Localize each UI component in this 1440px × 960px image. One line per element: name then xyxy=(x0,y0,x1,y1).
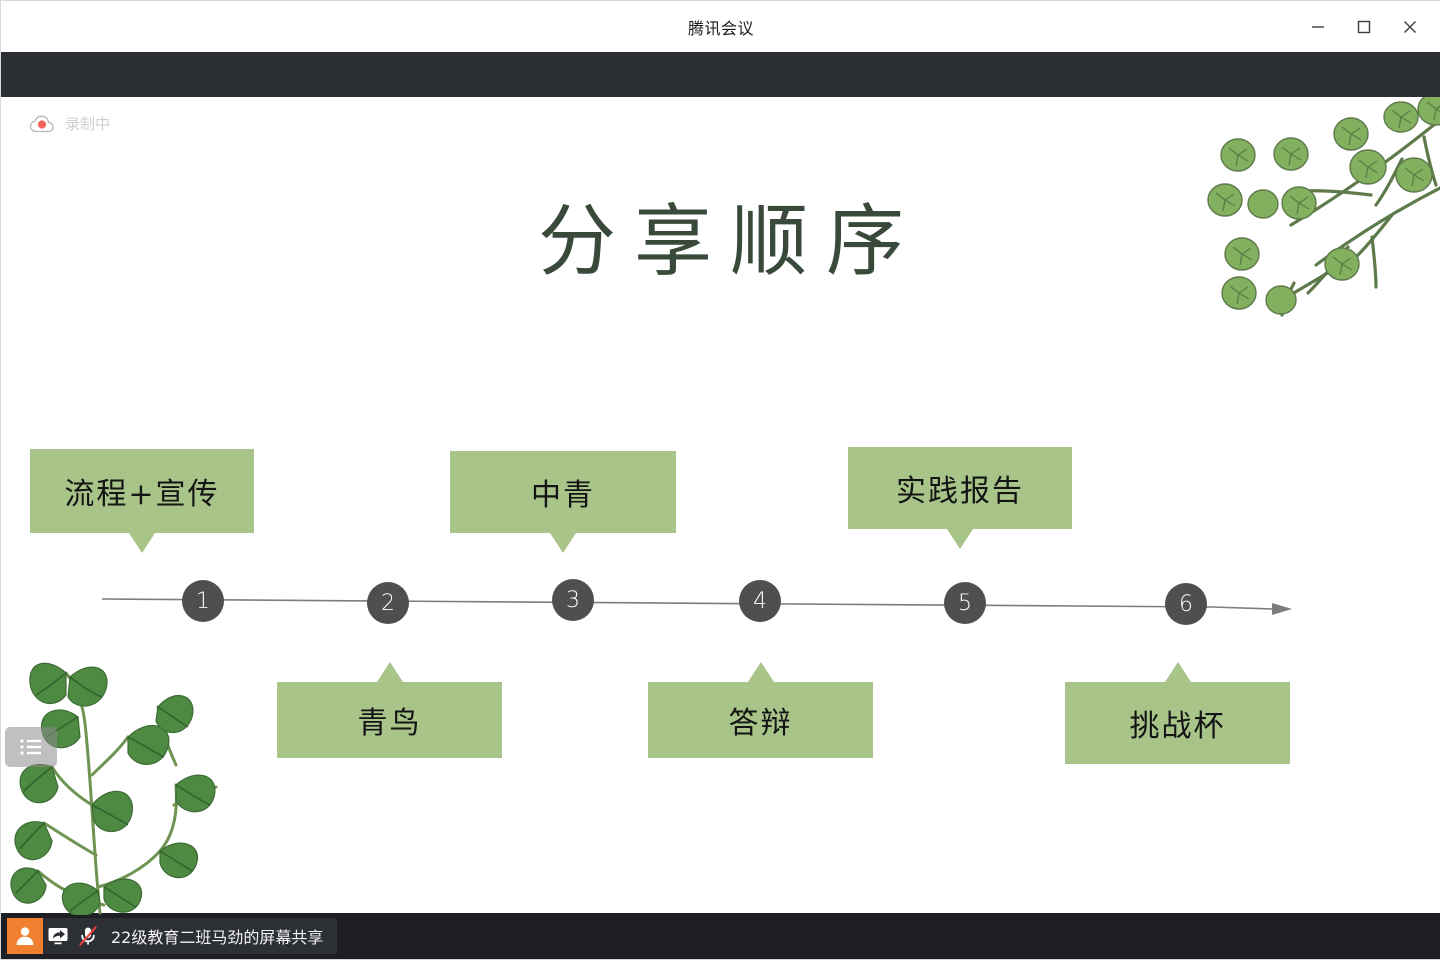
close-button[interactable] xyxy=(1387,7,1433,47)
screen-share-status-pill[interactable]: 22级教育二班马劲的屏幕共享 xyxy=(7,918,337,954)
avatar xyxy=(7,918,43,954)
timeline-node-label: 4 xyxy=(753,589,767,614)
timeline-node-2[interactable]: 2 xyxy=(367,582,409,624)
callout-tail xyxy=(129,533,155,553)
shared-screen-slide: 分享顺序 1 2 3 4 5 6 流程+宣传 xyxy=(2,97,1440,915)
timeline-node-1[interactable]: 1 xyxy=(182,580,224,622)
list-icon xyxy=(18,737,44,757)
screen-share-icon xyxy=(47,926,69,946)
callout-tail xyxy=(1165,662,1191,682)
meeting-toolbar-strip xyxy=(1,52,1440,97)
microphone-mute-button[interactable] xyxy=(73,918,103,954)
share-status-text: 22级教育二班马劲的屏幕共享 xyxy=(111,924,323,948)
callout-step-3[interactable]: 中青 xyxy=(450,451,676,533)
person-icon xyxy=(14,925,36,947)
timeline-node-label: 6 xyxy=(1179,592,1193,617)
callout-step-5[interactable]: 实践报告 xyxy=(848,447,1072,529)
window-title: 腾讯会议 xyxy=(688,15,754,39)
callout-tail xyxy=(947,529,973,549)
timeline-node-label: 3 xyxy=(566,588,580,613)
recording-indicator: 录制中 xyxy=(29,113,110,134)
cloud-record-icon xyxy=(29,114,55,134)
timeline-node-6[interactable]: 6 xyxy=(1165,583,1207,625)
timeline-node-label: 2 xyxy=(381,591,395,616)
timeline-node-label: 1 xyxy=(196,589,210,614)
title-bar: 腾讯会议 xyxy=(1,1,1440,52)
callout-label: 答辩 xyxy=(729,698,793,742)
maximize-icon xyxy=(1357,20,1371,34)
callout-step-2[interactable]: 青鸟 xyxy=(277,682,502,758)
callout-step-6[interactable]: 挑战杯 xyxy=(1065,682,1290,764)
callout-tail xyxy=(377,662,403,682)
microphone-muted-icon xyxy=(77,925,99,947)
timeline-node-3[interactable]: 3 xyxy=(552,579,594,621)
callout-label: 挑战杯 xyxy=(1130,701,1226,745)
bottom-taskbar: 22级教育二班马劲的屏幕共享 xyxy=(1,913,1440,959)
minimize-icon xyxy=(1311,20,1325,34)
participants-list-button[interactable] xyxy=(5,727,57,767)
window-controls xyxy=(1295,1,1433,52)
callout-tail xyxy=(550,533,576,553)
callout-step-4[interactable]: 答辩 xyxy=(648,682,873,758)
callout-tail xyxy=(748,662,774,682)
timeline-node-4[interactable]: 4 xyxy=(739,580,781,622)
tencent-meeting-window: 腾讯会议 xyxy=(0,0,1440,960)
callout-label: 流程+宣传 xyxy=(64,469,219,513)
recording-label: 录制中 xyxy=(65,113,110,134)
page-title: 分享顺序 xyxy=(2,179,1440,291)
screen-share-button[interactable] xyxy=(43,918,73,954)
callout-label: 中青 xyxy=(531,470,595,514)
timeline-node-5[interactable]: 5 xyxy=(944,582,986,624)
callout-label: 实践报告 xyxy=(896,466,1024,510)
minimize-button[interactable] xyxy=(1295,7,1341,47)
close-icon xyxy=(1403,20,1417,34)
callout-label: 青鸟 xyxy=(358,698,422,742)
maximize-button[interactable] xyxy=(1341,7,1387,47)
timeline-node-label: 5 xyxy=(958,591,972,616)
callout-step-1[interactable]: 流程+宣传 xyxy=(30,449,254,533)
leaf-vine-decoration xyxy=(8,655,238,915)
